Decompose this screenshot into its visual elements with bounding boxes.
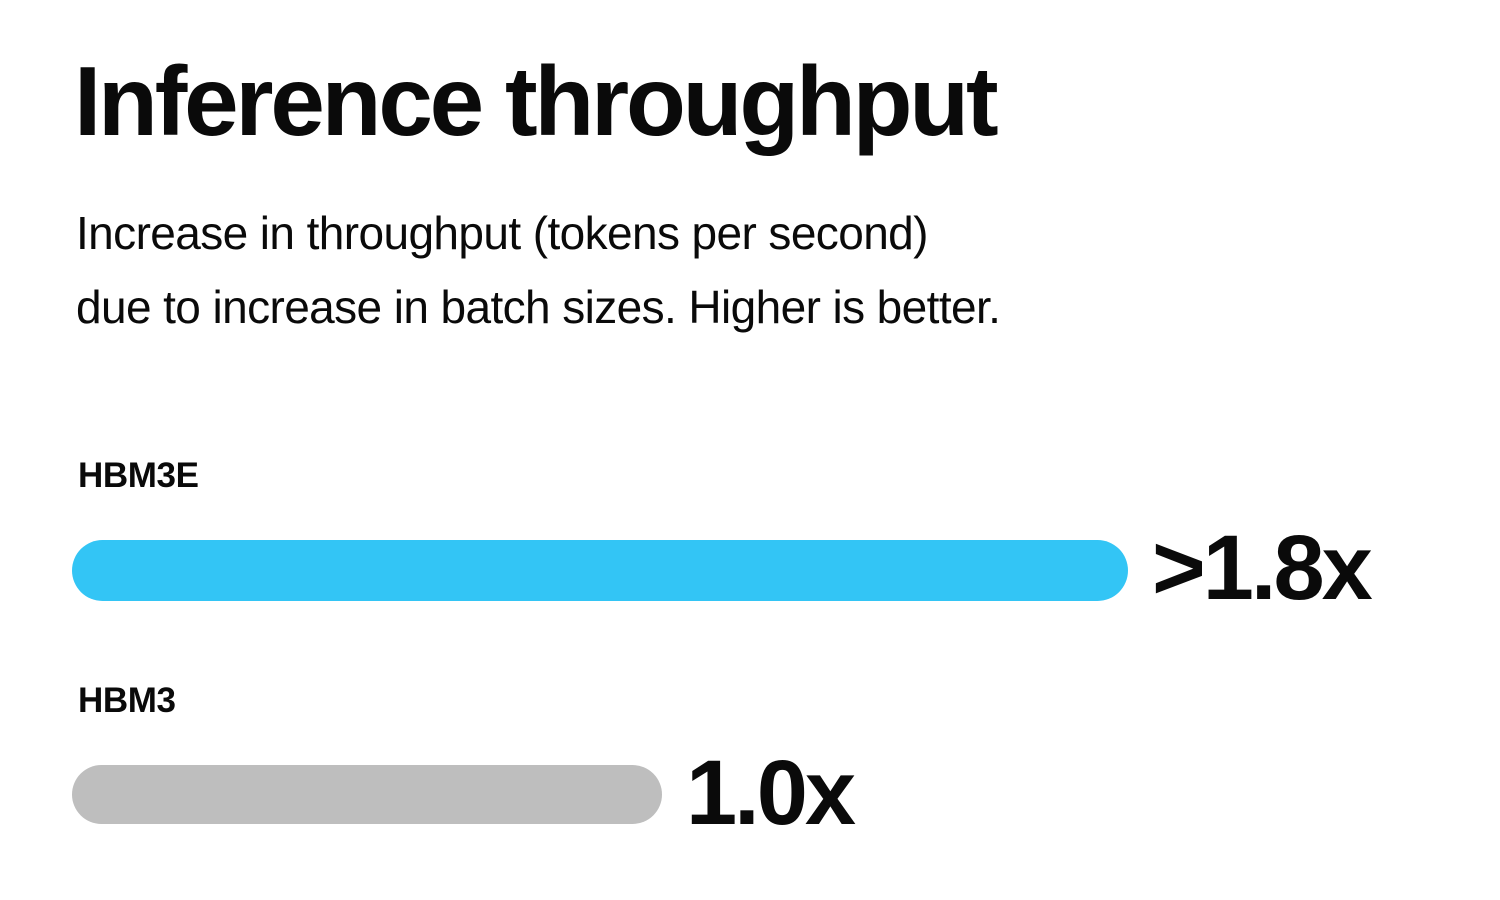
bar-row-hbm3e: >1.8x xyxy=(0,533,1500,603)
bar-value-hbm3e: >1.8x xyxy=(1152,522,1370,614)
page-title: Inference throughput xyxy=(74,52,995,150)
chart-subtitle-line-2: due to increase in batch sizes. Higher i… xyxy=(76,270,1000,344)
chart-subtitle-line-1: Increase in throughput (tokens per secon… xyxy=(76,196,1000,270)
bar-fill-hbm3 xyxy=(72,765,662,824)
chart-subtitle: Increase in throughput (tokens per secon… xyxy=(76,196,1000,344)
bar-fill-hbm3e xyxy=(72,540,1128,601)
chart-canvas: Inference throughput Increase in through… xyxy=(0,0,1500,900)
bar-row-hbm3: 1.0x xyxy=(0,758,1500,828)
bar-track-hbm3 xyxy=(72,765,662,824)
bar-track-hbm3e xyxy=(72,540,1128,601)
bar-label-hbm3: HBM3 xyxy=(78,680,176,722)
bar-value-hbm3: 1.0x xyxy=(686,747,853,839)
bar-label-hbm3e: HBM3E xyxy=(78,455,199,497)
